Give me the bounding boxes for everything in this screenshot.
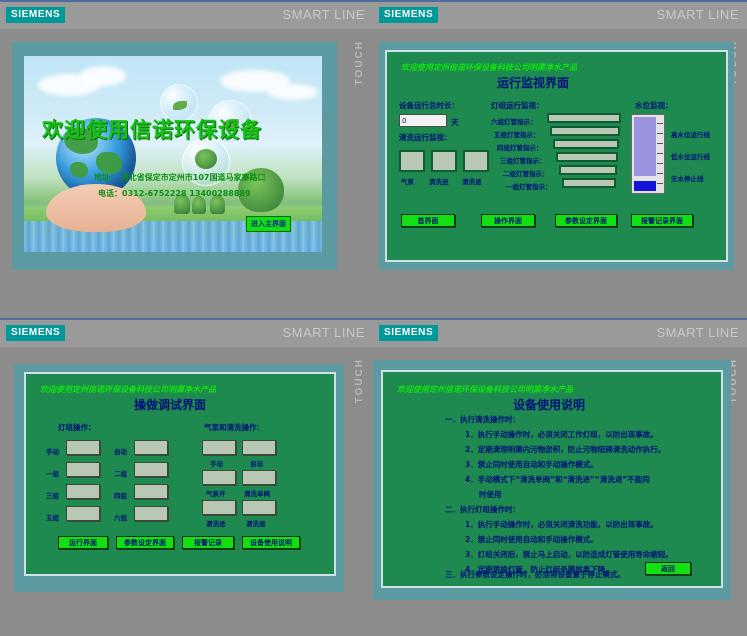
continent-shape (96, 152, 122, 174)
water-level-low-fill (634, 181, 656, 191)
lamp-monitor-label: 灯组运行监视： (491, 100, 544, 111)
runtime-unit-label: 天 (451, 117, 459, 128)
pump-btn-label-single-valve: 清洗单阀 (244, 488, 270, 498)
siemens-logo: SIEMENS (6, 7, 65, 23)
device-bezel-top: SIEMENS SMART LINE (373, 320, 747, 347)
nav-button-alarm-log[interactable]: 报警记录界面 (631, 214, 693, 227)
lamp-button-g4[interactable] (134, 484, 168, 499)
level-mark-low: 低水位运行线 (671, 151, 710, 161)
lamp-btn-label-g5: 五组 (46, 512, 59, 522)
lamp-group-label: 灯组操作： (58, 422, 96, 433)
operation-title: 操做调试界面 (134, 396, 206, 413)
gauge-tick (657, 153, 663, 154)
touch-side-label: TOUCH (354, 40, 365, 85)
device-bezel-top: SIEMENS SMART LINE (0, 2, 373, 29)
screen-inner-border: 欢迎使用定州信诺环保设备科技公司明渠净水产品 运行监视界面 设备运行总时长： 0… (385, 50, 728, 262)
instruction-line: 2．禁止同时使用自动和手动操作模式。 (465, 534, 598, 545)
wash-indicator-in (431, 150, 457, 172)
instruction-line: 一．执行清洗操作时： (445, 414, 520, 425)
instruction-line: 2．定期清理明渠内污物淤积，防止污物阻碍清洗动作执行。 (465, 444, 665, 455)
hmi-screen-instructions: 欢迎使用定州信诺环保设备科技公司明渠净水产品 设备使用说明 一．执行清洗操作时：… (373, 360, 731, 600)
pump-button-manual[interactable] (202, 440, 236, 455)
level-mark-high: 高水位运行线 (671, 129, 710, 139)
nav-button-alarm-log[interactable]: 报警记录 (182, 536, 234, 549)
gauge-tick (657, 133, 663, 134)
nav-button-parameters[interactable]: 参数设定界面 (555, 214, 617, 227)
cloud-icon (80, 66, 126, 86)
welcome-background-image: 欢迎使用信诺环保设备 地址： 河北省保定市定州市107国道马家寨路口 电话：03… (24, 56, 322, 252)
gauge-tick (657, 143, 663, 144)
wash-label-out: 清洗退 (462, 176, 482, 186)
water-level-fill (634, 117, 656, 176)
gauge-tick (657, 123, 663, 124)
lamp-row-label-6: 六组灯管指示： (491, 116, 537, 126)
siemens-logo: SIEMENS (379, 7, 438, 23)
lamp-button-g6[interactable] (134, 506, 168, 521)
instruction-line: 时使用 (479, 489, 502, 500)
device-bezel-top: SIEMENS SMART LINE (373, 2, 747, 29)
instructions-subtitle: 欢迎使用定州信诺环保设备科技公司明渠净水产品 (397, 384, 573, 395)
wash-label-air-pump: 气泵 (401, 176, 414, 186)
welcome-title: 欢迎使用信诺环保设备 (42, 114, 262, 144)
lamp-button-g3[interactable] (66, 484, 100, 499)
lamp-button-auto[interactable] (134, 440, 168, 455)
pump-button-air-on[interactable] (202, 470, 236, 485)
lamp-btn-label-manual: 手动 (46, 446, 59, 456)
smart-line-label: SMART LINE (282, 7, 365, 22)
siemens-logo: SIEMENS (379, 325, 438, 341)
pump-button-auto[interactable] (242, 440, 276, 455)
pump-btn-label-auto: 自动 (250, 458, 263, 468)
pump-btn-label-manual: 手动 (210, 458, 223, 468)
continent-shape (70, 162, 88, 178)
instruction-line: 1．执行手动操作时，必须关闭清洗功能，以防出现事故。 (465, 519, 658, 530)
cloud-icon (268, 84, 318, 100)
lamp-button-g5[interactable] (66, 506, 100, 521)
pump-button-wash-out[interactable] (242, 500, 276, 515)
runtime-label: 设备运行总时长： (399, 100, 459, 111)
smart-line-label: SMART LINE (656, 325, 739, 340)
pump-btn-label-wash-out: 清洗退 (246, 518, 266, 528)
wash-label-in: 清洗进 (429, 176, 449, 186)
operation-subtitle: 欢迎使用定州信诺环保设备科技公司明渠净水产品 (40, 384, 216, 395)
gauge-tick (657, 173, 663, 174)
level-label: 水位监视： (635, 100, 673, 111)
instruction-line: 三．执行参数设定操作时，必须将设备置于停止模式。 (445, 569, 625, 580)
lamp-row-label-3: 三组灯管指示： (500, 155, 546, 165)
nav-button-instructions[interactable]: 设备使用说明 (242, 536, 300, 549)
hmi-screen-welcome: 欢迎使用信诺环保设备 地址： 河北省保定市定州市107国道马家寨路口 电话：03… (12, 42, 337, 270)
nav-button-run-screen[interactable]: 运行界面 (58, 536, 108, 549)
lamp-indicator-6 (547, 113, 621, 123)
instruction-line: 3．灯组关闭后，禁止马上启动，以防造成灯管使用寿命缩短。 (465, 549, 673, 560)
pump-button-wash-in[interactable] (202, 500, 236, 515)
siemens-logo: SIEMENS (6, 325, 65, 341)
lamp-btn-label-g1: 一组 (46, 468, 59, 478)
nav-button-home[interactable]: 首界面 (401, 214, 455, 227)
gauge-tick (657, 163, 663, 164)
welcome-address: 地址： 河北省保定市定州市107国道马家寨路口 (94, 172, 265, 183)
screen-inner-border: 欢迎使用定州信诺环保设备科技公司明渠净水产品 设备使用说明 一．执行清洗操作时：… (381, 370, 723, 588)
lamp-btn-label-auto: 自动 (114, 446, 127, 456)
lamp-btn-label-g3: 三组 (46, 490, 59, 500)
lamp-button-g1[interactable] (66, 462, 100, 477)
lamp-btn-label-g6: 六组 (114, 512, 127, 522)
lamp-row-label-5: 五组灯管指示： (494, 129, 540, 139)
hmi-page-instructions: 欢迎使用定州信诺环保设备科技公司明渠净水产品 设备使用说明 一．执行清洗操作时：… (383, 372, 721, 586)
lamp-button-g2[interactable] (134, 462, 168, 477)
hmi-screen-operation: 欢迎使用定州信诺环保设备科技公司明渠净水产品 操做调试界面 灯组操作： 气泵和清… (14, 364, 344, 592)
lamp-indicator-2 (559, 165, 617, 175)
pump-btn-label-wash-in: 清洗进 (206, 518, 226, 528)
instruction-line: 1．执行手动操作时，必须关闭工作灯组，以防出现事故。 (465, 429, 658, 440)
monitor-title: 运行监视界面 (497, 74, 569, 91)
instruction-line: 二．执行灯组操作时： (445, 504, 520, 515)
pump-group-label: 气泵和清洗操作： (204, 422, 264, 433)
water-level-gauge (631, 114, 665, 194)
instruction-line: 3．禁止同时使用自动和手动操作模式。 (465, 459, 598, 470)
nav-button-operation[interactable]: 操作界面 (481, 214, 535, 227)
panel-operation: SIEMENS SMART LINE TOUCH 欢迎使用定州信诺环保设备科技公… (0, 318, 373, 636)
touch-side-label: TOUCH (354, 358, 365, 403)
lamp-indicator-4 (553, 139, 619, 149)
welcome-phone: 电话：0312-6752228 13400288889 (98, 188, 251, 199)
gauge-tick (657, 183, 663, 184)
hmi-screen-monitor: 欢迎使用定州信诺环保设备科技公司明渠净水产品 运行监视界面 设备运行总时长： 0… (379, 42, 734, 270)
level-mark-stop: 无水停止线 (671, 173, 704, 183)
lamp-indicator-3 (556, 152, 618, 162)
lamp-indicator-1 (562, 178, 616, 188)
panel-instructions: SIEMENS SMART LINE TOUCH 欢迎使用定州信诺环保设备科技公… (373, 318, 747, 636)
wash-indicator-air-pump (399, 150, 425, 172)
pump-button-single-valve[interactable] (242, 470, 276, 485)
sprout-icon (173, 101, 187, 110)
lamp-row-label-4: 四组灯管指示： (497, 142, 543, 152)
device-bezel-top: SIEMENS SMART LINE (0, 320, 373, 347)
screen-inner-border: 欢迎使用定州信诺环保设备科技公司明渠净水产品 操做调试界面 灯组操作： 气泵和清… (24, 372, 336, 576)
instructions-title: 设备使用说明 (513, 396, 585, 413)
monitor-subtitle: 欢迎使用定州信诺环保设备科技公司明渠净水产品 (401, 62, 577, 73)
wash-indicator-out (463, 150, 489, 172)
panel-welcome: SIEMENS SMART LINE TOUCH (0, 0, 373, 318)
wash-monitor-label: 清洗运行监视： (399, 132, 452, 143)
lamp-btn-label-g4: 四组 (114, 490, 127, 500)
hmi-page-operation: 欢迎使用定州信诺环保设备科技公司明渠净水产品 操做调试界面 灯组操作： 气泵和清… (26, 374, 334, 574)
pump-btn-label-air-on: 气泵开 (206, 488, 226, 498)
smart-line-label: SMART LINE (282, 325, 365, 340)
screenshot-root: SIEMENS SMART LINE TOUCH (0, 0, 747, 636)
enter-main-screen-button[interactable]: 进入主界面 (246, 216, 291, 232)
hmi-page-monitor: 欢迎使用定州信诺环保设备科技公司明渠净水产品 运行监视界面 设备运行总时长： 0… (387, 52, 726, 260)
nav-button-parameters[interactable]: 参数设定界面 (116, 536, 174, 549)
lamp-row-label-2: 二组灯管指示： (503, 168, 549, 178)
instruction-line: 4．手动模式下“清洗单阀”和“清洗进”“清洗退”不能同 (465, 474, 650, 485)
smart-line-label: SMART LINE (656, 7, 739, 22)
lamp-btn-label-g2: 二组 (114, 468, 127, 478)
lamp-button-manual[interactable] (66, 440, 100, 455)
tree-icon (195, 149, 217, 169)
runtime-value-field[interactable]: 0 (399, 114, 447, 127)
return-button[interactable]: 返回 (645, 562, 691, 575)
lamp-row-label-1: 一组灯管指示： (506, 181, 552, 191)
panel-monitor: SIEMENS SMART LINE TOUCH 欢迎使用定州信诺环保设备科技公… (373, 0, 747, 318)
lamp-indicator-5 (550, 126, 620, 136)
